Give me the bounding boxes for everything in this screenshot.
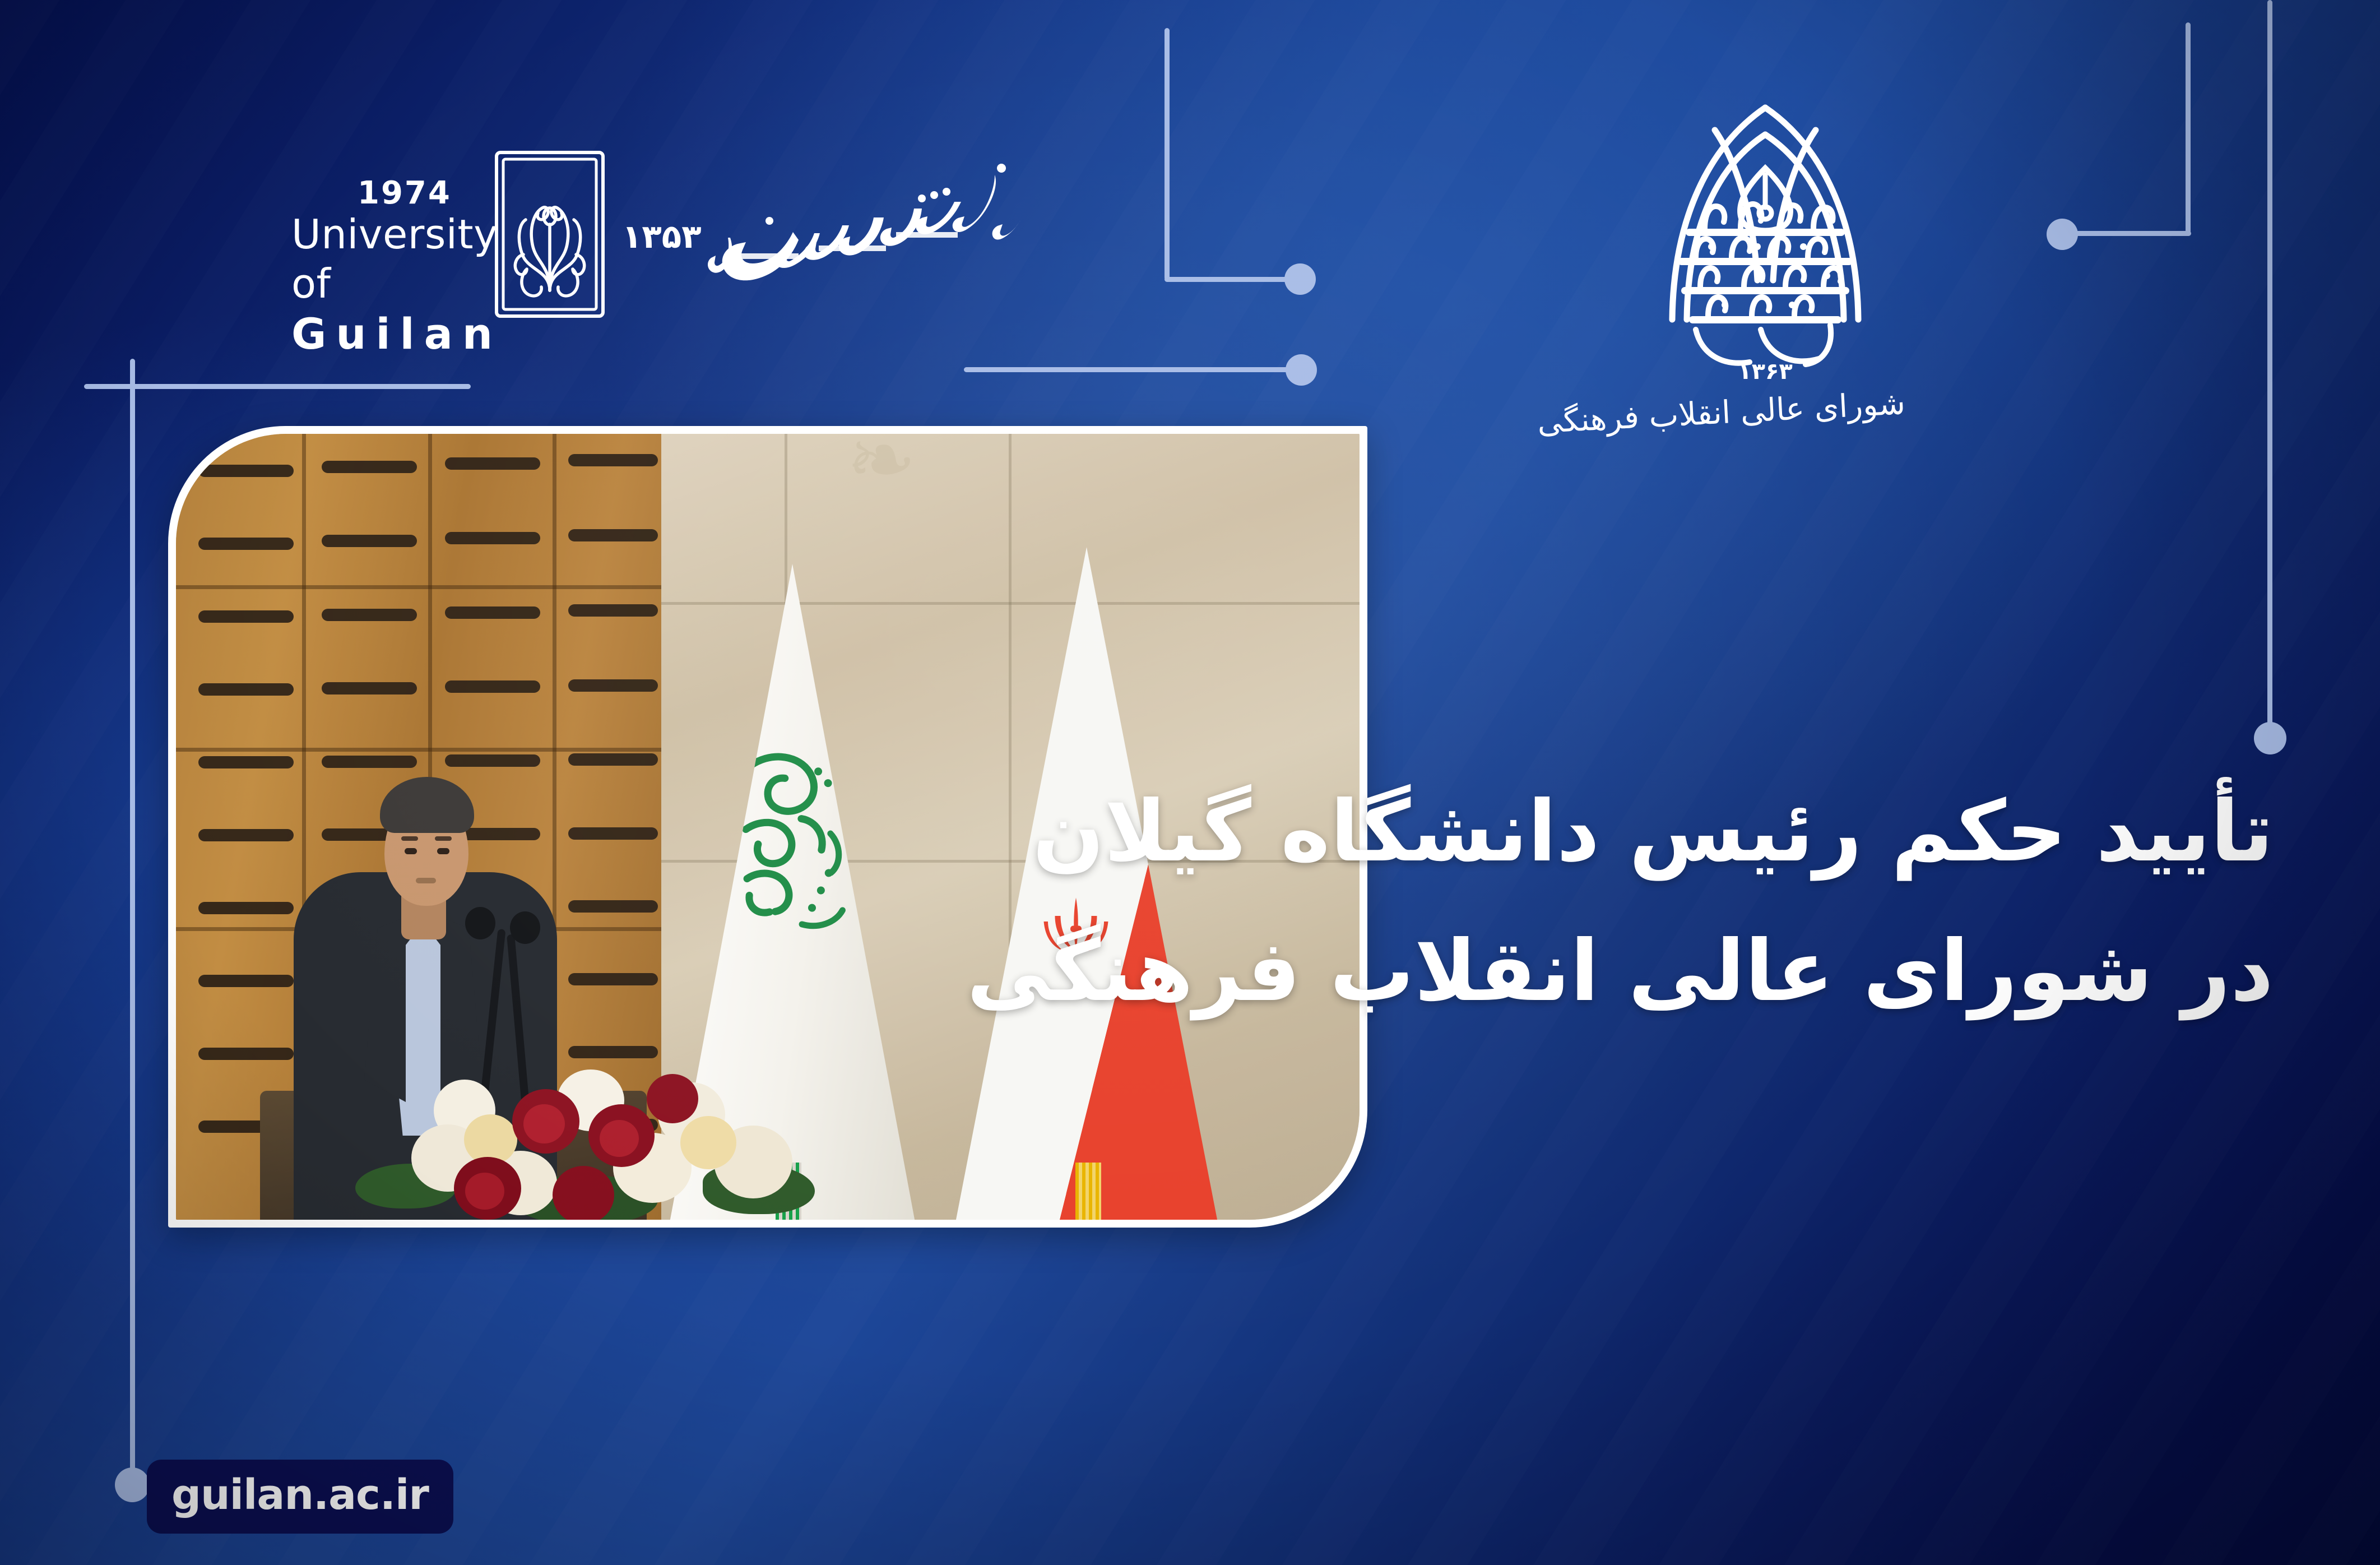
speaker-eye-left: [405, 848, 417, 854]
speaker-brow-right: [435, 836, 452, 841]
decor-dot-left-bottom: [115, 1467, 150, 1502]
website-url-text: guilan.ac.ir: [171, 1471, 429, 1519]
council-logo-year-persian: ۱۳۶۳: [1642, 359, 1889, 385]
decor-dot-mid-upper: [1284, 263, 1316, 295]
university-name-persian-calligraphy: [658, 155, 1045, 295]
headline-line-2: در شورای عالی انقلاب فرهنگی: [1209, 902, 2274, 1041]
speaker-brow-left: [401, 836, 418, 841]
decor-line-right-long-vertical: [2267, 0, 2272, 729]
decor-line-left-horizontal: [84, 384, 471, 389]
decor-dot-mid-lower: [1286, 354, 1317, 386]
news-poster: 1974 University of Guilan: [0, 0, 2380, 1565]
headline-line-1: تأیید حکم رئیس دانشگاه گیلان: [1209, 762, 2274, 902]
photo-microphone-head-left: [465, 907, 495, 939]
decor-line-mid-vertical: [1165, 28, 1170, 280]
decor-dot-right-left: [2047, 219, 2078, 250]
university-logo-latin-text: 1974 University of Guilan: [291, 177, 516, 360]
university-emblem-icon: [494, 150, 605, 318]
decor-line-right-short-vertical: [2186, 22, 2191, 235]
speaker-mouth: [416, 878, 436, 883]
stone-ornament-icon: ❧: [846, 434, 917, 509]
flag-fringe-iran: [1075, 1163, 1101, 1220]
website-url-badge[interactable]: guilan.ac.ir: [147, 1460, 453, 1534]
photo-microphone-head-right: [510, 911, 540, 944]
supreme-council-of-cultural-revolution-logo: ۱۳۶۳ شورای عالی انقلاب فرهنگی: [1642, 78, 1889, 471]
university-logo-line1: University of: [291, 210, 516, 309]
university-name-persian-text: دانشگاه گیلان: [1045, 150, 1045, 151]
university-logo-line2: Guilan: [291, 308, 516, 359]
university-logo-year-latin: 1974: [358, 177, 516, 210]
photo-flower-bouquet: [344, 1040, 837, 1220]
speaker-eye-right: [437, 848, 449, 854]
university-of-guilan-logo: 1974 University of Guilan: [291, 150, 1045, 318]
decor-line-mid-horizontal: [1165, 277, 1299, 282]
decor-dot-right-bottom: [2254, 722, 2286, 754]
decor-line-mid-horizontal-2: [964, 367, 1300, 372]
headline: تأیید حکم رئیس دانشگاه گیلان در شورای عا…: [1209, 762, 2274, 1041]
speaker-hair: [380, 777, 474, 833]
decor-line-left-vertical: [130, 359, 135, 1474]
